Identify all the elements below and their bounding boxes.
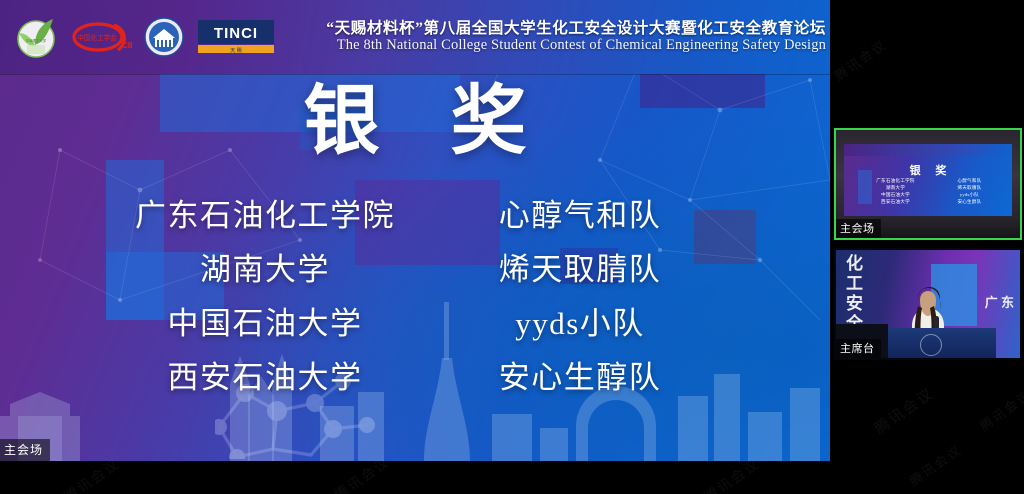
podium [880, 328, 996, 358]
backdrop-char: 化 [846, 254, 863, 274]
sponsor-logos: 华南理工大学 中国化工学会 CIESC [0, 15, 276, 59]
svg-text:天 赐: 天 赐 [230, 48, 242, 54]
university-seal-logo-icon [143, 16, 185, 58]
green-leaf-emblem-logo-icon: 华南理工大学 [13, 15, 59, 59]
meeting-screen: 华南理工大学 中国化工学会 CIESC [0, 0, 1024, 494]
main-shared-screen-video[interactable]: 华南理工大学 中国化工学会 CIESC [0, 0, 830, 461]
banner-title-en: The 8th National College Student Contest… [276, 38, 826, 53]
thumbnail-winner-team: 安心生醇队 [937, 199, 1002, 205]
thumbnail-label: 主会场 [836, 219, 881, 238]
winner-row: 西安石油大学 安心生醇队 [100, 352, 730, 397]
svg-text:TINCI: TINCI [214, 25, 258, 42]
backdrop-characters: 化 工 安 全 [846, 254, 863, 334]
thumbnail-winner-school: 广东石油化工学院 [854, 178, 937, 184]
thumbnail-winner-school: 中国石油大学 [854, 192, 937, 198]
backdrop-char: 工 [846, 274, 863, 294]
thumbnail-winner-rows: 广东石油化工学院 心醇气和队 湖南大学 烯天取腈队 中国石油大学 yyds小队 [854, 178, 1002, 206]
winner-team: 安心生醇队 [430, 352, 730, 397]
thumbnail-winner-team: 心醇气和队 [937, 178, 1002, 184]
thumbnail-podium[interactable]: 化 工 安 全 广 东 主席台 [834, 248, 1022, 360]
backdrop-char: 安 [846, 294, 863, 314]
thumbnail-winner-row: 中国石油大学 yyds小队 [854, 192, 1002, 198]
svg-text:CIESC: CIESC [122, 41, 132, 50]
winners-list: 广东石油化工学院 心醇气和队 湖南大学 烯天取腈队 中国石油大学 yyds小队 … [100, 190, 730, 406]
winner-school: 广东石油化工学院 [100, 190, 430, 235]
svg-text:华南理工大学: 华南理工大学 [26, 38, 47, 43]
thumbnail-winner-team: 烯天取腈队 [937, 185, 1002, 191]
svg-text:中国化工学会: 中国化工学会 [77, 33, 117, 42]
award-title: 银 奖 [0, 84, 830, 160]
thumbnail-winner-row: 西安石油大学 安心生醇队 [854, 199, 1002, 205]
thumbnail-winner-school: 湖南大学 [854, 185, 937, 191]
winner-school: 中国石油大学 [100, 298, 430, 343]
thumbnail-winner-row: 广东石油化工学院 心醇气和队 [854, 178, 1002, 184]
winner-school: 湖南大学 [100, 244, 430, 289]
winner-school: 西安石油大学 [100, 352, 430, 397]
thumbnail-label: 主席台 [836, 339, 881, 358]
presentation-slide: 华南理工大学 中国化工学会 CIESC [0, 0, 830, 461]
event-banner: 华南理工大学 中国化工学会 CIESC [0, 0, 830, 74]
thumbnail-winner-school: 西安石油大学 [854, 199, 937, 205]
winner-team: yyds小队 [430, 298, 730, 343]
thumbnail-winner-row: 湖南大学 烯天取腈队 [854, 185, 1002, 191]
thumbnail-stage-screen: 银 奖 广东石油化工学院 心醇气和队 湖南大学 烯天取腈队 中国石油大学 yyd [844, 144, 1012, 218]
thumbnail-award-title: 银 奖 [844, 162, 1012, 178]
video-letterbox [0, 461, 830, 494]
winner-row: 广东石油化工学院 心醇气和队 [100, 190, 730, 235]
thumbnail-main-venue[interactable]: 银 奖 广东石油化工学院 心醇气和队 湖南大学 烯天取腈队 中国石油大学 yyd [834, 128, 1022, 240]
winner-row: 中国石油大学 yyds小队 [100, 298, 730, 343]
winner-team: 心醇气和队 [430, 190, 730, 235]
winner-row: 湖南大学 烯天取腈队 [100, 244, 730, 289]
backdrop-right-text: 广 东 [985, 292, 1014, 311]
thumbnail-winner-team: yyds小队 [937, 192, 1002, 198]
main-video-venue-label: 主会场 [0, 439, 50, 461]
winner-team: 烯天取腈队 [430, 244, 730, 289]
tinci-logo-icon: TINCI 天 赐 [196, 17, 276, 57]
thumbnail-banner [844, 144, 1012, 156]
banner-title-cn: “天赐材料杯”第八届全国大学生化工安全设计大赛暨化工安全教育论坛 [276, 21, 826, 37]
ciesc-logo-icon: 中国化工学会 CIESC [70, 17, 132, 57]
banner-titles: “天赐材料杯”第八届全国大学生化工安全设计大赛暨化工安全教育论坛 The 8th… [276, 21, 830, 53]
participant-filmstrip: 银 奖 广东石油化工学院 心醇气和队 湖南大学 烯天取腈队 中国石油大学 yyd [830, 0, 1024, 494]
